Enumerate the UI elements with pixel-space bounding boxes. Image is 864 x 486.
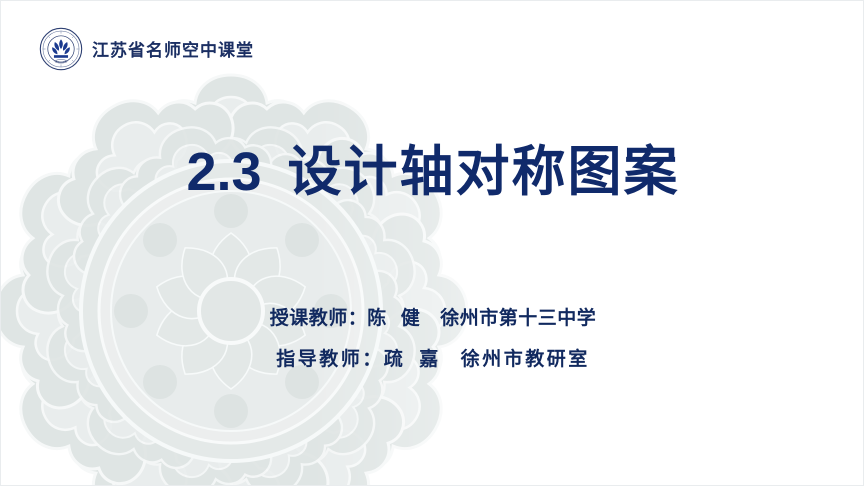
lecturer-name-last: 健 [401,308,421,329]
jiangsu-teacher-seal-emblem-icon [39,27,83,71]
lecturer-label: 授课教师： [270,308,368,329]
title-text: 设计轴对称图案 [288,142,680,202]
title-number: 2.3 [186,142,261,202]
advisor-line: 指导教师：疏嘉徐州市教研室 [1,350,864,369]
slide-title: 2.3设计轴对称图案 [1,141,864,203]
brand-name: 江苏省名师空中课堂 [92,40,254,59]
lecturer-line: 授课教师：陈健徐州市第十三中学 [1,309,864,328]
background-mandala-pattern [1,1,864,486]
advisor-affiliation: 徐州市教研室 [461,349,590,370]
lecturer-affiliation: 徐州市第十三中学 [440,308,596,329]
lecturer-name-first: 陈 [367,308,387,329]
advisor-label: 指导教师： [276,349,384,370]
advisor-name-first: 疏 [384,349,406,370]
presentation-slide: 江苏省名师空中课堂 2.3设计轴对称图案 授课教师：陈健徐州市第十三中学 指导教… [0,0,864,486]
brand-lockup: 江苏省名师空中课堂 [39,27,254,71]
credits-block: 授课教师：陈健徐州市第十三中学 指导教师：疏嘉徐州市教研室 [1,309,864,369]
advisor-name-last: 嘉 [419,349,441,370]
